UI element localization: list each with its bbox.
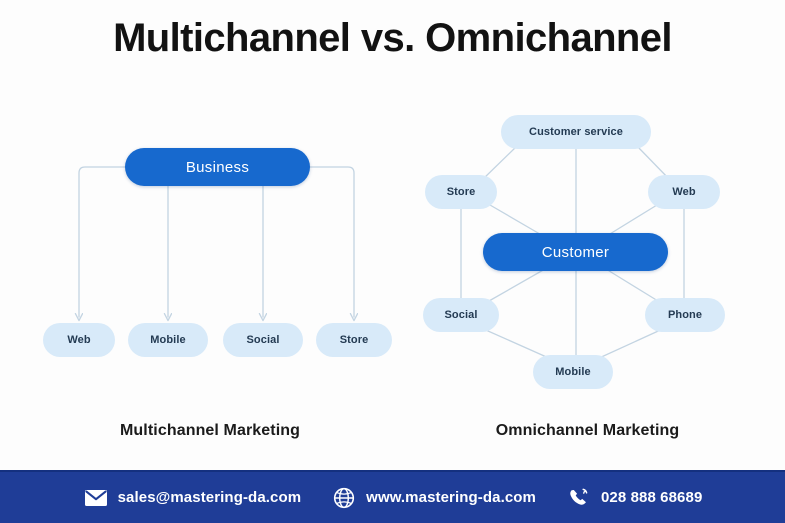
footer-phone-text: 028 888 68689 (601, 489, 702, 506)
node-omnichannel-social[interactable]: Social (423, 298, 499, 332)
footer-phone[interactable]: 028 888 68689 (566, 487, 702, 509)
node-omnichannel-store[interactable]: Store (425, 175, 497, 209)
envelope-icon (83, 487, 109, 509)
node-multichannel-mobile[interactable]: Mobile (128, 323, 208, 357)
node-omnichannel-mobile-label: Mobile (555, 366, 590, 378)
node-multichannel-store[interactable]: Store (316, 323, 392, 357)
node-omnichannel-customer-service-label: Customer service (529, 126, 623, 138)
node-omnichannel-phone-label: Phone (668, 309, 702, 321)
caption-omnichannel: Omnichannel Marketing (405, 422, 770, 440)
caption-multichannel: Multichannel Marketing (20, 422, 400, 440)
node-omnichannel-store-label: Store (447, 186, 476, 198)
node-multichannel-social-label: Social (246, 334, 279, 346)
page-title: Multichannel vs. Omnichannel (0, 16, 785, 61)
node-customer-label: Customer (542, 244, 609, 261)
infographic-canvas: Multichannel vs. Omnichannel Business (0, 0, 785, 523)
node-multichannel-mobile-label: Mobile (150, 334, 185, 346)
footer-email[interactable]: sales@mastering-da.com (83, 487, 302, 509)
contact-footer-bar: sales@mastering-da.com www.mastering-da.… (0, 470, 785, 523)
node-business[interactable]: Business (125, 148, 310, 186)
phone-icon (566, 487, 592, 509)
node-omnichannel-customer-service[interactable]: Customer service (501, 115, 651, 149)
node-omnichannel-web-label: Web (672, 186, 695, 198)
footer-website[interactable]: www.mastering-da.com (331, 487, 536, 509)
footer-website-text: www.mastering-da.com (366, 489, 536, 506)
node-business-label: Business (186, 159, 249, 176)
node-omnichannel-web[interactable]: Web (648, 175, 720, 209)
multichannel-diagram: Business Web Mobile Social Store (20, 105, 400, 405)
node-omnichannel-mobile[interactable]: Mobile (533, 355, 613, 389)
node-multichannel-social[interactable]: Social (223, 323, 303, 357)
node-omnichannel-phone[interactable]: Phone (645, 298, 725, 332)
node-multichannel-web-label: Web (67, 334, 90, 346)
node-multichannel-web[interactable]: Web (43, 323, 115, 357)
node-omnichannel-social-label: Social (444, 309, 477, 321)
node-multichannel-store-label: Store (340, 334, 369, 346)
node-customer[interactable]: Customer (483, 233, 668, 271)
omnichannel-diagram: Customer service Store Web Customer Soci… (405, 105, 770, 405)
globe-icon (331, 487, 357, 509)
footer-email-text: sales@mastering-da.com (118, 489, 302, 506)
